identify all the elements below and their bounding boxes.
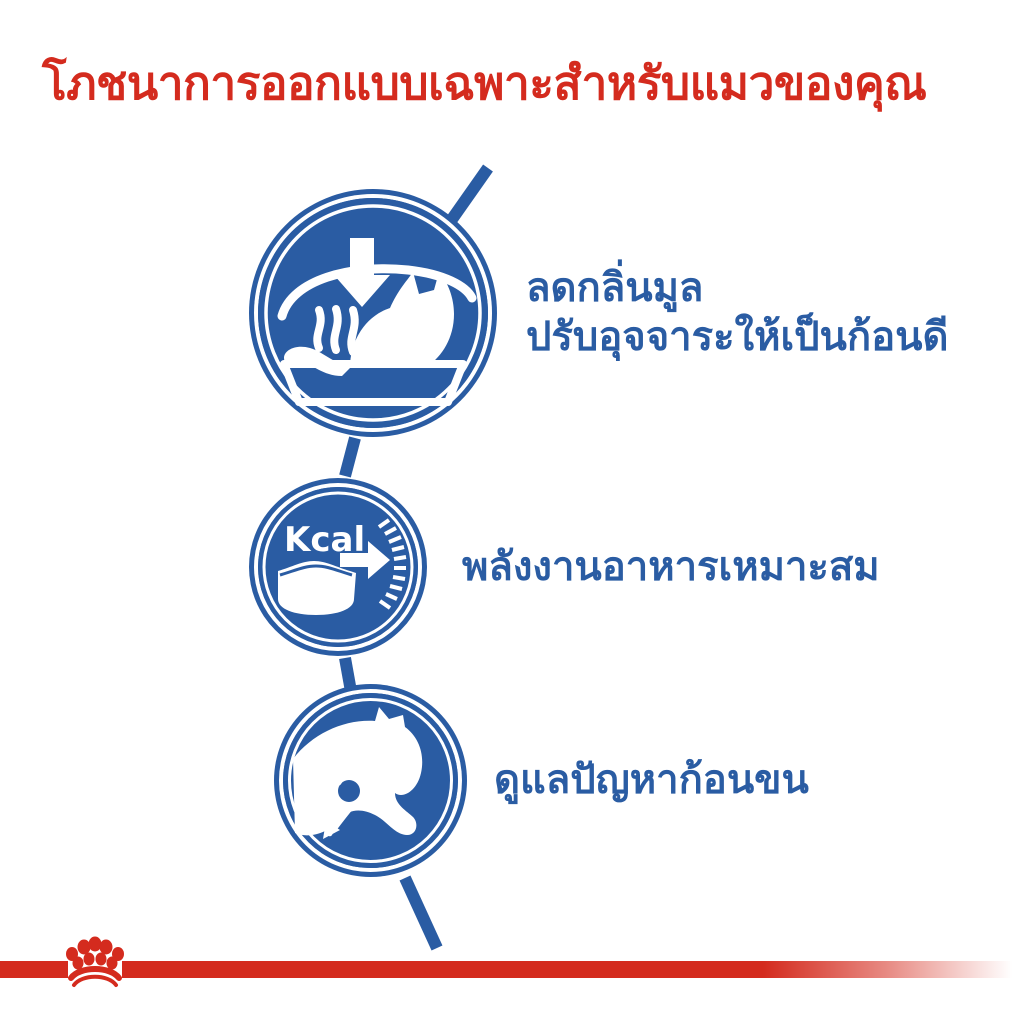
royal-canin-crown-logo: [64, 928, 126, 990]
benefit-row: Kcal: [258, 487, 880, 647]
benefit-row: ลดกลิ่นมูล ปรับอุจจาระให้เป็นก้อนดี: [258, 198, 948, 428]
benefit-row: ดูแลปัญหาก้อนขน: [283, 693, 809, 868]
benefit-label-line: ปรับอุจจาระให้เป็นก้อนดี: [526, 313, 948, 362]
cat-hairball-care-icon: [283, 693, 458, 868]
page-title: โภชนาการออกแบบเฉพาะสำหรับแมวของคุณ: [42, 55, 992, 111]
kcal-energy-gauge-icon: Kcal: [258, 487, 418, 647]
benefit-label-line: ลดกลิ่นมูล: [526, 264, 948, 313]
benefit-label-line: ดูแลปัญหาก้อนขน: [494, 756, 809, 805]
benefit-label: ดูแลปัญหาก้อนขน: [494, 756, 809, 805]
footer-bar-right: [122, 961, 1012, 978]
benefit-label: ลดกลิ่นมูล ปรับอุจจาระให้เป็นก้อนดี: [526, 264, 948, 362]
benefit-label-line: พลังงานอาหารเหมาะสม: [462, 543, 880, 592]
infographic-page: โภชนาการออกแบบเฉพาะสำหรับแมวของคุณ: [0, 0, 1024, 1024]
cat-litter-box-odor-icon: [258, 198, 488, 428]
benefit-label: พลังงานอาหารเหมาะสม: [462, 543, 880, 592]
footer-bar-left: [0, 961, 68, 978]
